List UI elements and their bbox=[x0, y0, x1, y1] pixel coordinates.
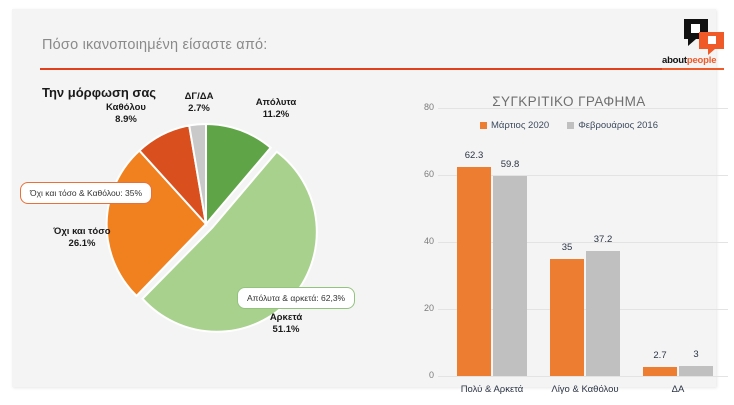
logo-word-about: about bbox=[662, 55, 687, 66]
gridline-80 bbox=[438, 108, 728, 109]
logo-underline bbox=[662, 68, 724, 70]
section-subtitle: Την μόρφωση σας bbox=[42, 85, 156, 100]
gridline-0 bbox=[438, 376, 728, 377]
logo-wordmark: aboutpeople bbox=[662, 55, 724, 67]
xtick-da: ΔΑ bbox=[618, 384, 734, 395]
header-divider bbox=[40, 68, 722, 70]
pie-label-katholou: Καθόλου8.9% bbox=[86, 102, 166, 126]
bar-poly-arketa-2020 bbox=[457, 167, 491, 376]
logo-word-people: people bbox=[687, 55, 716, 66]
bar-value-da-2016: 3 bbox=[674, 349, 718, 360]
callout-negative: Όχι και τόσο & Καθόλου: 35% bbox=[20, 182, 152, 204]
ytick-80: 80 bbox=[408, 102, 434, 112]
pie-label-oxi-kai-toso: Όχι και τόσο26.1% bbox=[37, 226, 127, 250]
bar-chart-title: ΣΥΓΚΡΙΤΙΚΟ ΓΡΑΦΗΜΑ bbox=[404, 94, 734, 109]
bar-value-poly-arketa-2016: 59.8 bbox=[488, 159, 532, 170]
brand-logo: aboutpeople bbox=[662, 19, 724, 73]
pie-chart: Καθόλου8.9% ΔΓ/ΔΑ2.7% Απόλυτα11.2% Όχι κ… bbox=[24, 104, 394, 394]
bar-chart-plot: 0 20 40 60 80 62.3 59.8 35 37.2 2.7 bbox=[438, 108, 728, 376]
bar-poly-arketa-2016 bbox=[493, 176, 527, 376]
callout-positive: Απόλυτα & αρκετά: 62,3% bbox=[237, 287, 355, 309]
ytick-20: 20 bbox=[408, 303, 434, 313]
ytick-0: 0 bbox=[408, 370, 434, 380]
bar-chart: ΣΥΓΚΡΙΤΙΚΟ ΓΡΑΦΗΜΑ Μάρτιος 2020Φεβρουάρι… bbox=[404, 94, 734, 394]
slide-root: Πόσο ικανοποιημένη είσαστε από: Την μόρφ… bbox=[0, 0, 734, 405]
pie-label-arketa: Αρκετά51.1% bbox=[249, 312, 323, 336]
bar-value-ligo-katholou-2016: 37.2 bbox=[581, 234, 625, 245]
page-title: Πόσο ικανοποιημένη είσαστε από: bbox=[42, 37, 268, 53]
pie-label-apoluta: Απόλυτα11.2% bbox=[236, 97, 316, 121]
ytick-60: 60 bbox=[408, 169, 434, 179]
bar-da-2016 bbox=[679, 366, 713, 376]
ytick-40: 40 bbox=[408, 236, 434, 246]
bar-da-2020 bbox=[643, 367, 677, 376]
bar-ligo-katholou-2020 bbox=[550, 259, 584, 376]
speech-bubbles-icon bbox=[684, 19, 724, 55]
slide-canvas: Πόσο ικανοποιημένη είσαστε από: Την μόρφ… bbox=[12, 9, 716, 387]
bar-ligo-katholou-2016 bbox=[586, 251, 620, 376]
pie-label-dg-da: ΔΓ/ΔΑ2.7% bbox=[164, 91, 234, 115]
